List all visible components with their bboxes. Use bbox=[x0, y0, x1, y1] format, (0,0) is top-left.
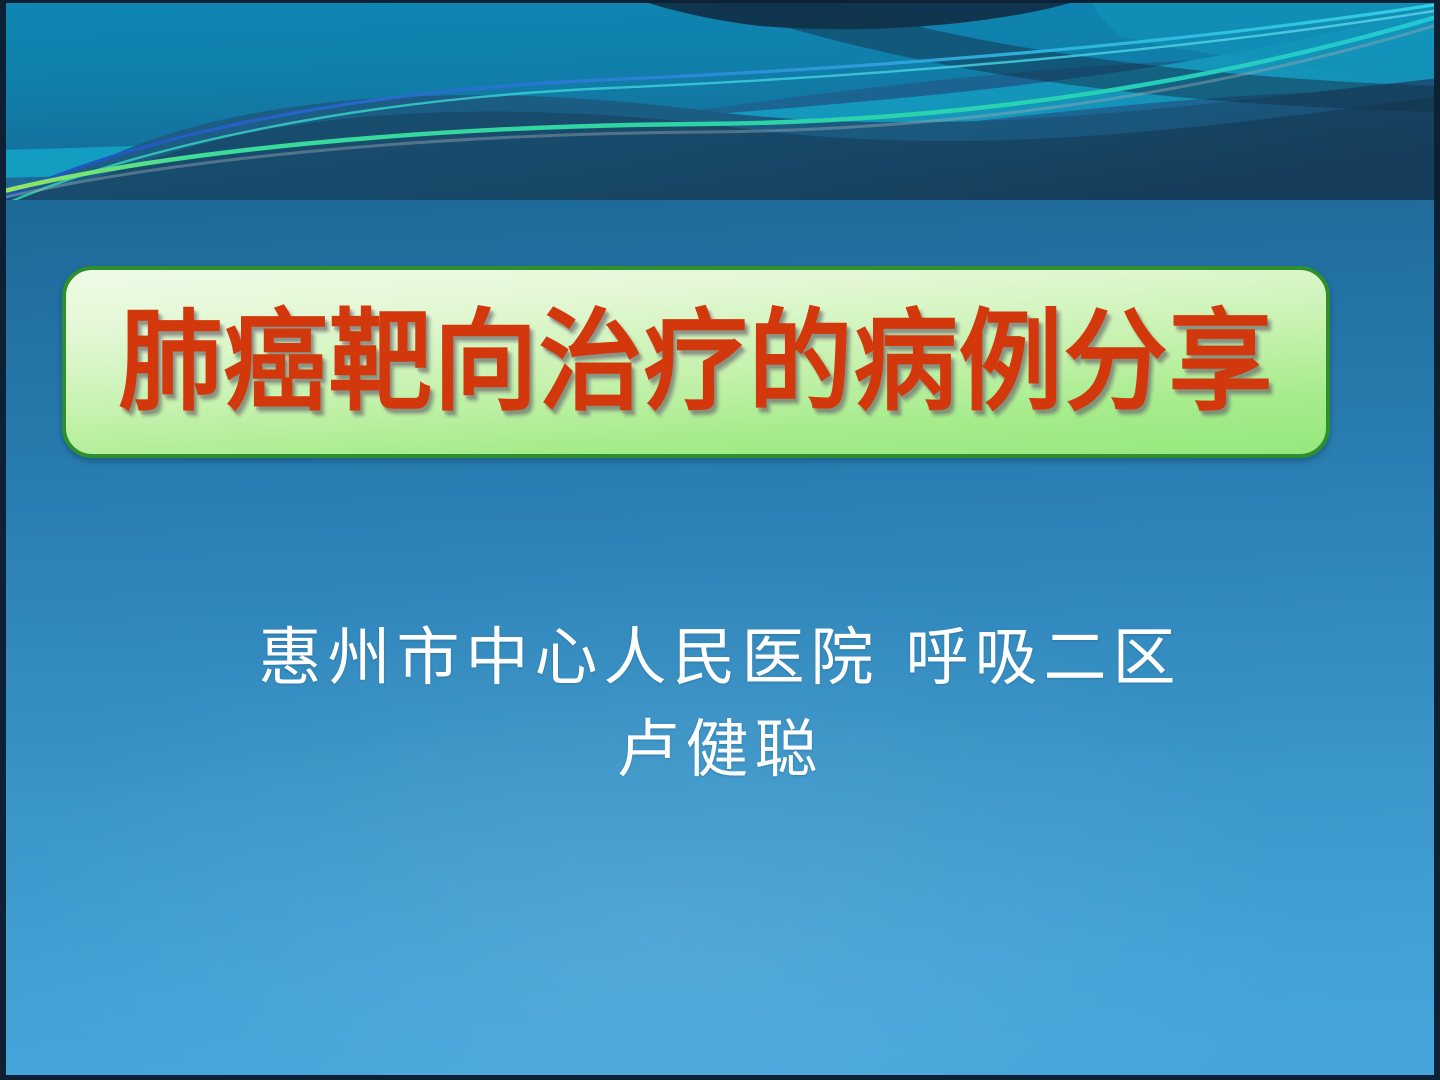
page-title: 肺癌靶向治疗的病例分享 bbox=[118, 307, 1273, 417]
presentation-slide: 肺癌靶向治疗的病例分享 惠州市中心人民医院 呼吸二区 卢健聪 bbox=[0, 0, 1440, 1080]
slide-title-box: 肺癌靶向治疗的病例分享 bbox=[62, 266, 1330, 458]
subtitle-line-presenter: 卢健聪 bbox=[120, 704, 1320, 796]
slide-background-gradient bbox=[0, 0, 1440, 1080]
subtitle-line-affiliation: 惠州市中心人民医院 呼吸二区 bbox=[120, 612, 1320, 704]
slide-subtitle-block: 惠州市中心人民医院 呼吸二区 卢健聪 bbox=[120, 612, 1320, 796]
